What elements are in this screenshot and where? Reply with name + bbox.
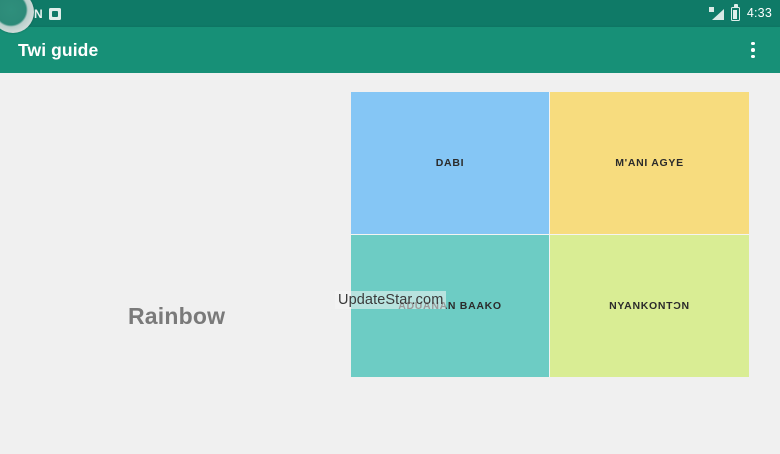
- color-cell-dabi[interactable]: DABI: [351, 92, 550, 234]
- battery-icon: [731, 7, 740, 21]
- color-grid: DABI M'ANI AGYE ADUANAN BAAKO NYANKONTƆN: [351, 92, 749, 377]
- color-cell-mani-agye[interactable]: M'ANI AGYE: [550, 92, 749, 234]
- color-cell-label: ADUANAN BAAKO: [398, 300, 502, 313]
- status-bar-right-icons: 4:33: [709, 7, 772, 21]
- signal-icon: [709, 7, 724, 20]
- color-cell-aduanan-baako[interactable]: ADUANAN BAAKO: [351, 234, 550, 377]
- color-cell-nyankonton[interactable]: NYANKONTƆN: [550, 234, 749, 377]
- page-title: Twi guide: [18, 40, 740, 61]
- color-cell-label: M'ANI AGYE: [615, 157, 684, 170]
- nfc-n-glyph-icon: N: [34, 8, 42, 20]
- main-content: Rainbow DABI M'ANI AGYE ADUANAN BAAKO NY…: [0, 73, 780, 454]
- status-bar: N 4:33: [0, 0, 780, 27]
- overflow-menu-icon[interactable]: [740, 33, 766, 67]
- color-cell-label: DABI: [436, 157, 464, 170]
- color-cell-label: NYANKONTƆN: [609, 300, 690, 313]
- app-bar: Twi guide: [0, 27, 780, 73]
- section-label-rainbow: Rainbow: [128, 303, 225, 330]
- app-window: N 4:33 Twi guide Rainbow DABI M'ANI AGYE: [0, 0, 780, 454]
- status-bar-clock: 4:33: [747, 7, 772, 20]
- app-square-icon: [49, 8, 61, 20]
- status-bar-left-icons: N: [34, 8, 61, 20]
